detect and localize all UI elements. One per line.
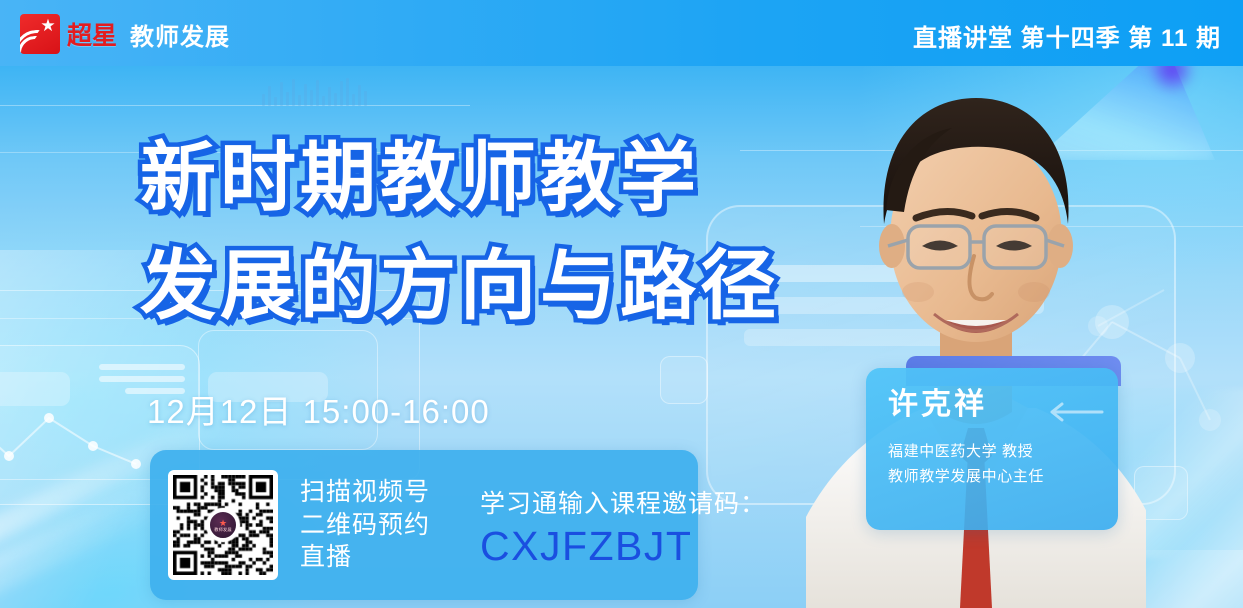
star-icon: ★ [219, 519, 227, 527]
speaker-affiliation: 福建中医药大学 教授 [888, 440, 1118, 465]
brand-logo[interactable]: ★ 超星 教师发展 [20, 14, 230, 54]
speaker-credentials: 福建中医药大学 教授 教师教学发展中心主任 [888, 440, 1118, 490]
invite-code-label: 学习通输入课程邀请码： [480, 484, 766, 520]
star-icon: ★ [40, 18, 56, 34]
live-event-poster: ★ 超星 教师发展 直播讲堂 第十四季 第 11 期 新时期教师教学 发展的方向… [0, 0, 1243, 608]
qr-info-panel: ★ 教师发展 扫描视频号 二维码预约 直播 学习通输入课程邀请码： CXJFZB… [150, 450, 698, 600]
brand-name-cn: 超星 [67, 16, 117, 52]
brand-subtitle: 教师发展 [130, 17, 230, 52]
scan-line-3: 直播 [300, 541, 430, 574]
title-line-2: 发展的方向与路径 [140, 238, 780, 334]
qr-badge-label: 教师发展 [214, 527, 232, 532]
scan-line-2: 二维码预约 [300, 509, 430, 542]
header-bar: ★ 超星 教师发展 直播讲堂 第十四季 第 11 期 [0, 0, 1243, 66]
scan-line-1: 扫描视频号 [300, 476, 430, 509]
chaoxing-star-logo-icon: ★ [20, 14, 60, 54]
decor-square [660, 356, 708, 404]
title-line-1: 新时期教师教学 [140, 130, 780, 226]
scan-instructions: 扫描视频号 二维码预约 直播 [300, 476, 430, 574]
page-title: 新时期教师教学 发展的方向与路径 [140, 130, 780, 334]
event-datetime: 12月12日 15:00-16:00 [147, 385, 490, 433]
invite-code-value[interactable]: CXJFZBJT [480, 526, 766, 567]
arrow-left-icon [1048, 402, 1104, 422]
guide-line [0, 105, 470, 106]
speaker-position: 教师教学发展中心主任 [888, 465, 1118, 490]
bar-chart-motif-icon [262, 78, 374, 106]
speaker-card: 许克祥 福建中医药大学 教授 教师教学发展中心主任 [866, 368, 1118, 530]
invite-code-block: 学习通输入课程邀请码： CXJFZBJT [480, 484, 766, 567]
qr-center-badge-icon: ★ 教师发展 [208, 510, 238, 540]
qr-code[interactable]: ★ 教师发展 [168, 470, 278, 580]
series-title: 直播讲堂 第十四季 第 11 期 [913, 18, 1221, 53]
